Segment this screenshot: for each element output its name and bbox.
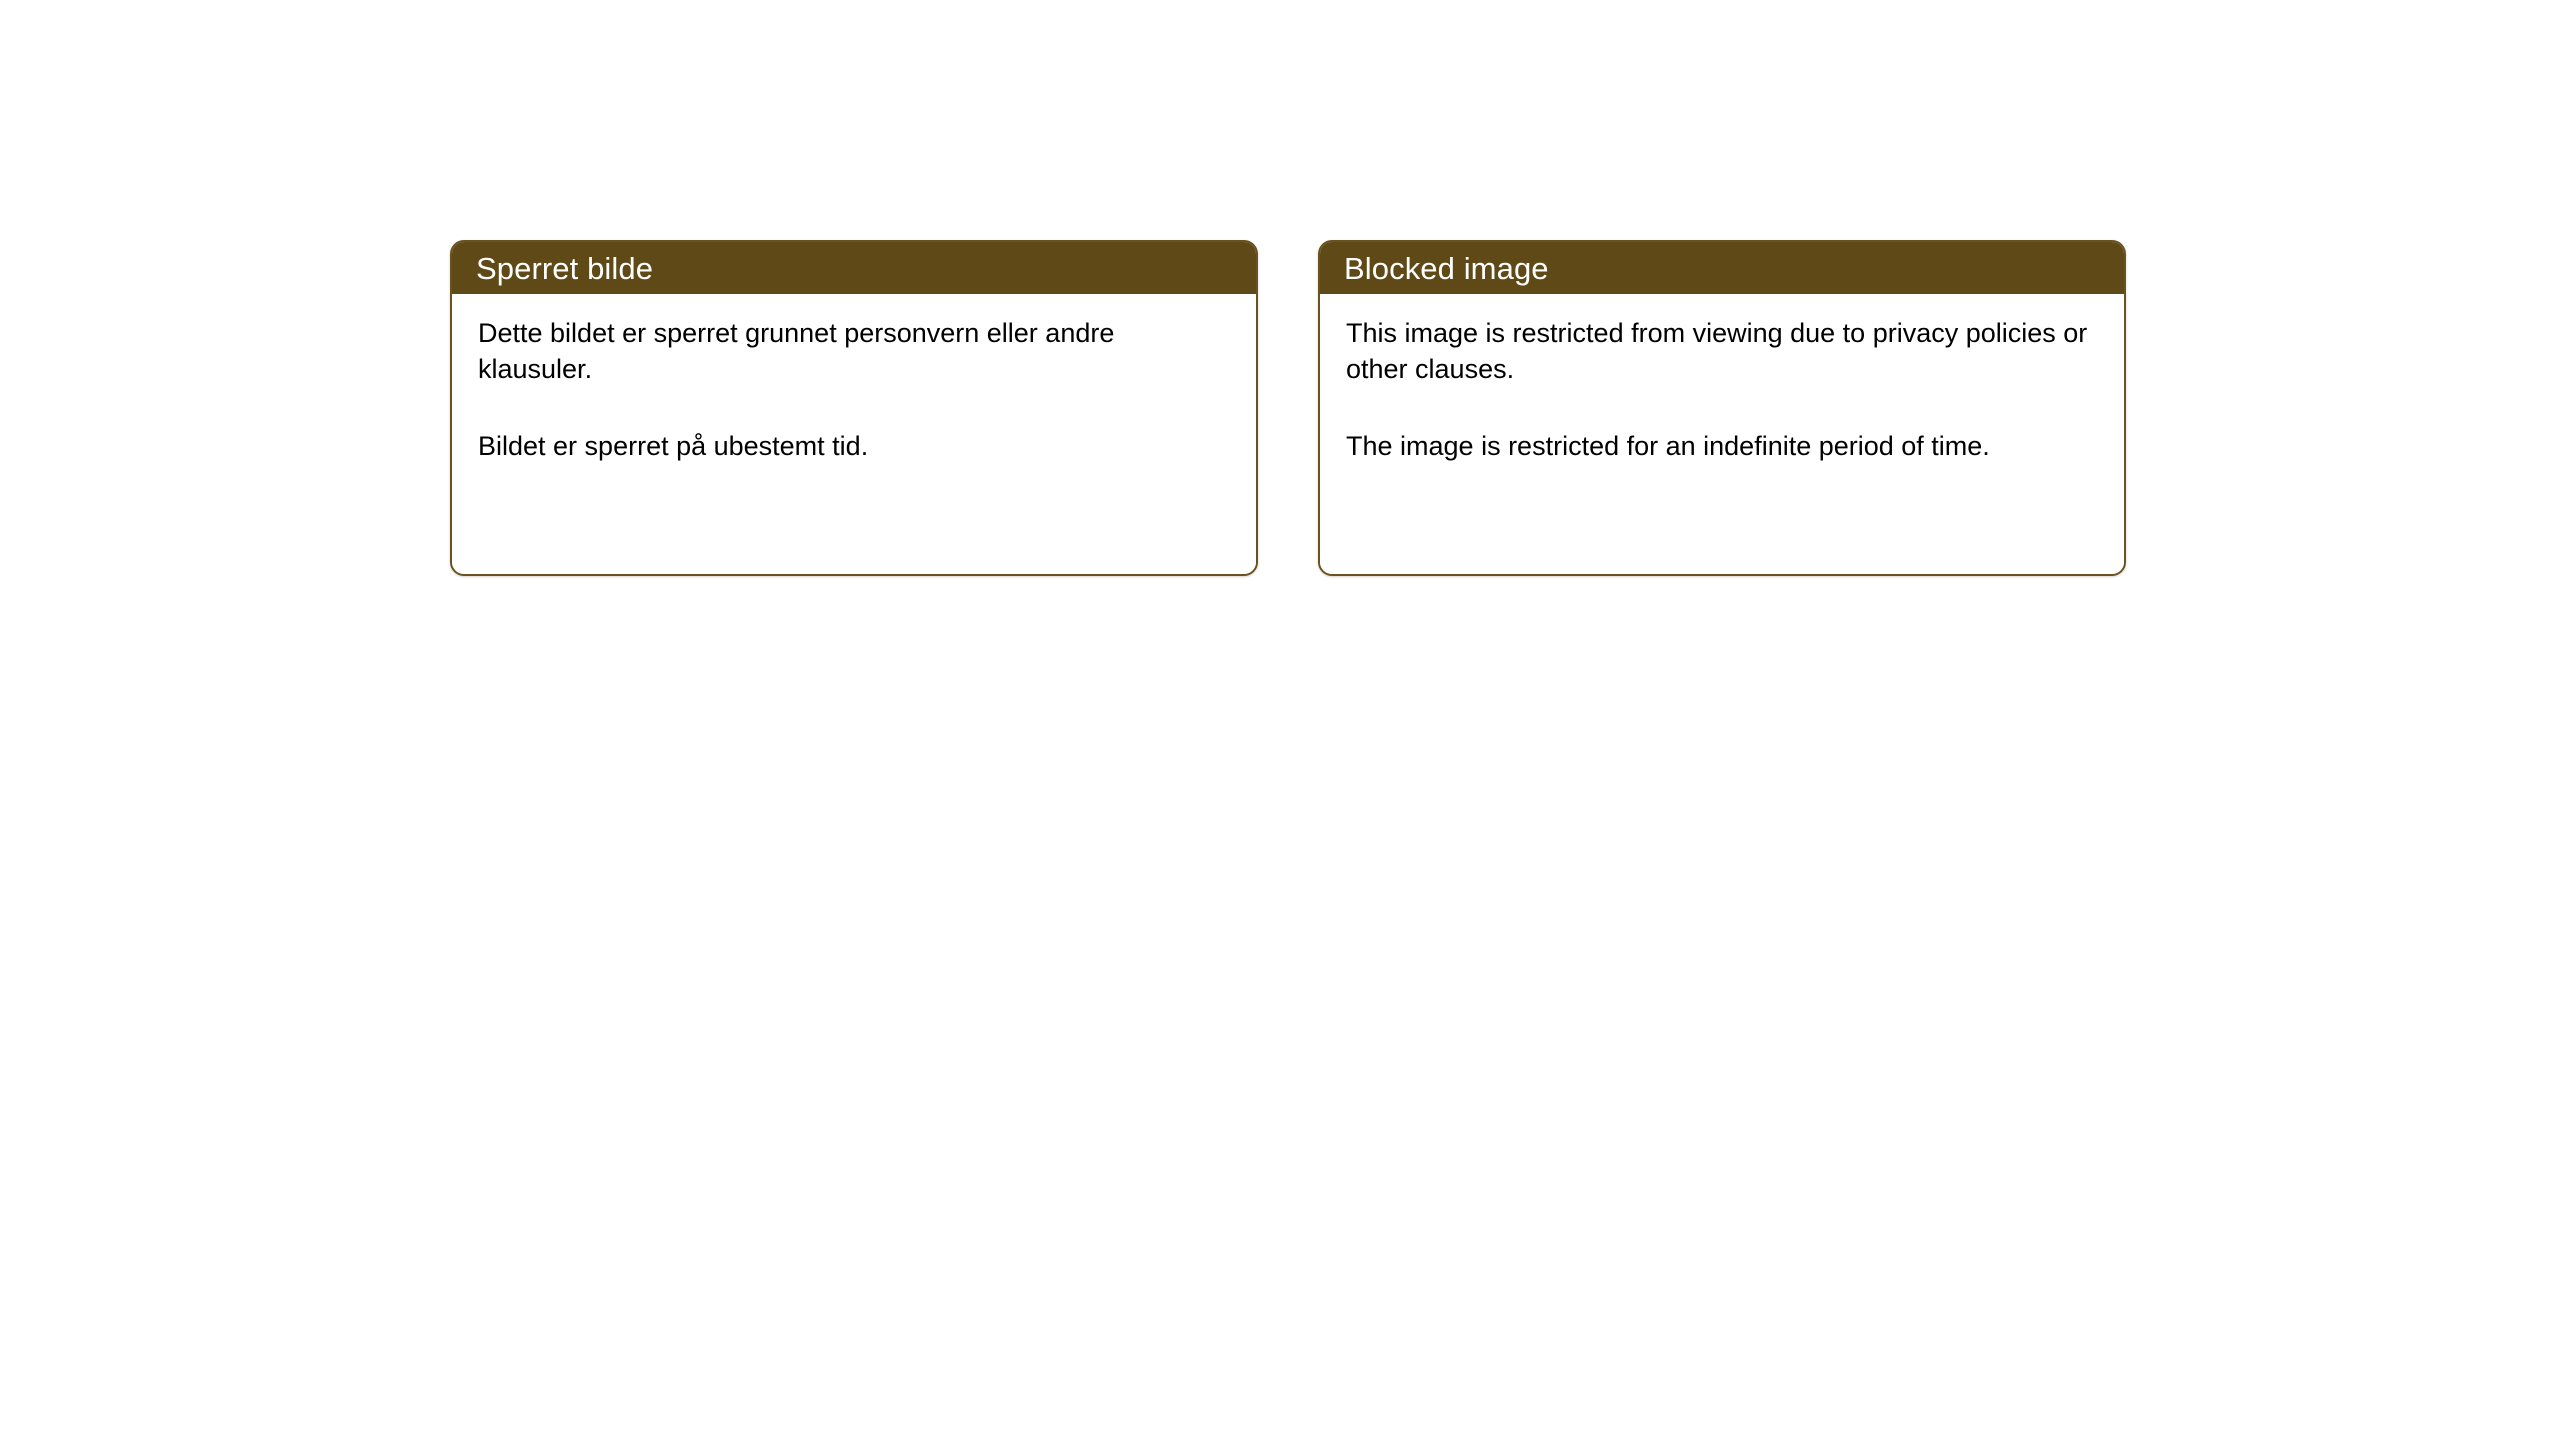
card-body-norwegian: Dette bildet er sperret grunnet personve…: [452, 294, 1256, 574]
blocked-image-card-norwegian: Sperret bilde Dette bildet er sperret gr…: [450, 240, 1258, 576]
blocked-image-card-english: Blocked image This image is restricted f…: [1318, 240, 2126, 576]
card-paragraph-duration-norwegian: Bildet er sperret på ubestemt tid.: [478, 429, 1230, 465]
card-paragraph-reason-norwegian: Dette bildet er sperret grunnet personve…: [478, 316, 1230, 388]
card-title-english: Blocked image: [1344, 253, 1549, 284]
card-header-english: Blocked image: [1320, 242, 2124, 294]
card-title-norwegian: Sperret bilde: [476, 253, 653, 284]
card-body-english: This image is restricted from viewing du…: [1320, 294, 2124, 574]
card-paragraph-duration-english: The image is restricted for an indefinit…: [1346, 429, 2098, 465]
card-paragraph-reason-english: This image is restricted from viewing du…: [1346, 316, 2098, 388]
card-header-norwegian: Sperret bilde: [452, 242, 1256, 294]
blocked-image-notices: Sperret bilde Dette bildet er sperret gr…: [450, 240, 2126, 576]
